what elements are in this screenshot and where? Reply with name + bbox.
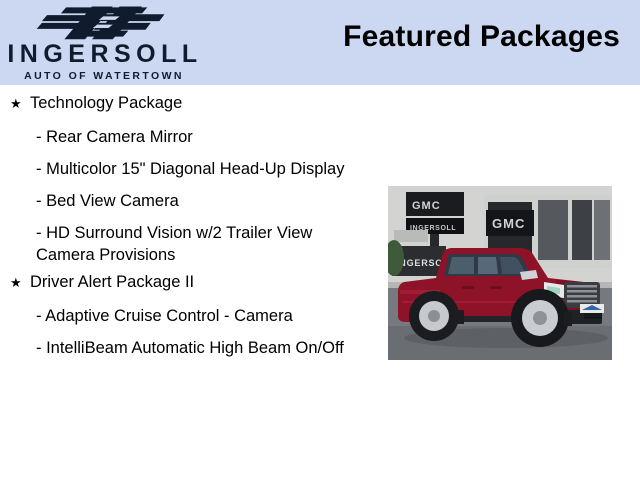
- ingersoll-winged-flag-logo-icon: [16, 3, 189, 41]
- package-feature: - Rear Camera Mirror: [8, 120, 360, 148]
- page-header: INGERSOLL AUTO OF WATERTOWN Featured Pac…: [0, 0, 640, 85]
- star-bullet-icon: ★: [8, 270, 30, 295]
- package-feature: - HD Surround Vision w/2 Trailer View Ca…: [8, 216, 360, 266]
- brand-name: INGERSOLL: [0, 42, 205, 67]
- package-group: ★ Driver Alert Package II - Adaptive Cru…: [8, 270, 360, 359]
- page-title: Featured Packages: [343, 20, 620, 54]
- package-heading: ★ Driver Alert Package II: [8, 270, 360, 295]
- vehicle-photo-illustration: GMC GMC INGERSOLL INGERSO: [388, 186, 612, 360]
- package-name: Technology Package: [30, 91, 360, 116]
- content-area: ★ Technology Package - Rear Camera Mirro…: [0, 85, 640, 480]
- svg-text:GMC: GMC: [492, 216, 525, 231]
- package-feature: - Multicolor 15" Diagonal Head-Up Displa…: [8, 152, 360, 180]
- package-heading: ★ Technology Package: [8, 91, 360, 116]
- svg-text:GMC: GMC: [412, 200, 441, 212]
- package-feature: - IntelliBeam Automatic High Beam On/Off: [8, 331, 360, 359]
- brand-lockup: INGERSOLL AUTO OF WATERTOWN: [0, 3, 205, 82]
- featured-packages-list: ★ Technology Package - Rear Camera Mirro…: [8, 91, 360, 363]
- package-feature: - Adaptive Cruise Control - Camera: [8, 299, 360, 327]
- package-group: ★ Technology Package - Rear Camera Mirro…: [8, 91, 360, 266]
- brand-tagline: AUTO OF WATERTOWN: [0, 71, 205, 82]
- package-name: Driver Alert Package II: [30, 270, 360, 295]
- star-bullet-icon: ★: [8, 91, 30, 116]
- package-feature: - Bed View Camera: [8, 184, 360, 212]
- vehicle-photo: GMC GMC INGERSOLL INGERSO: [388, 186, 612, 360]
